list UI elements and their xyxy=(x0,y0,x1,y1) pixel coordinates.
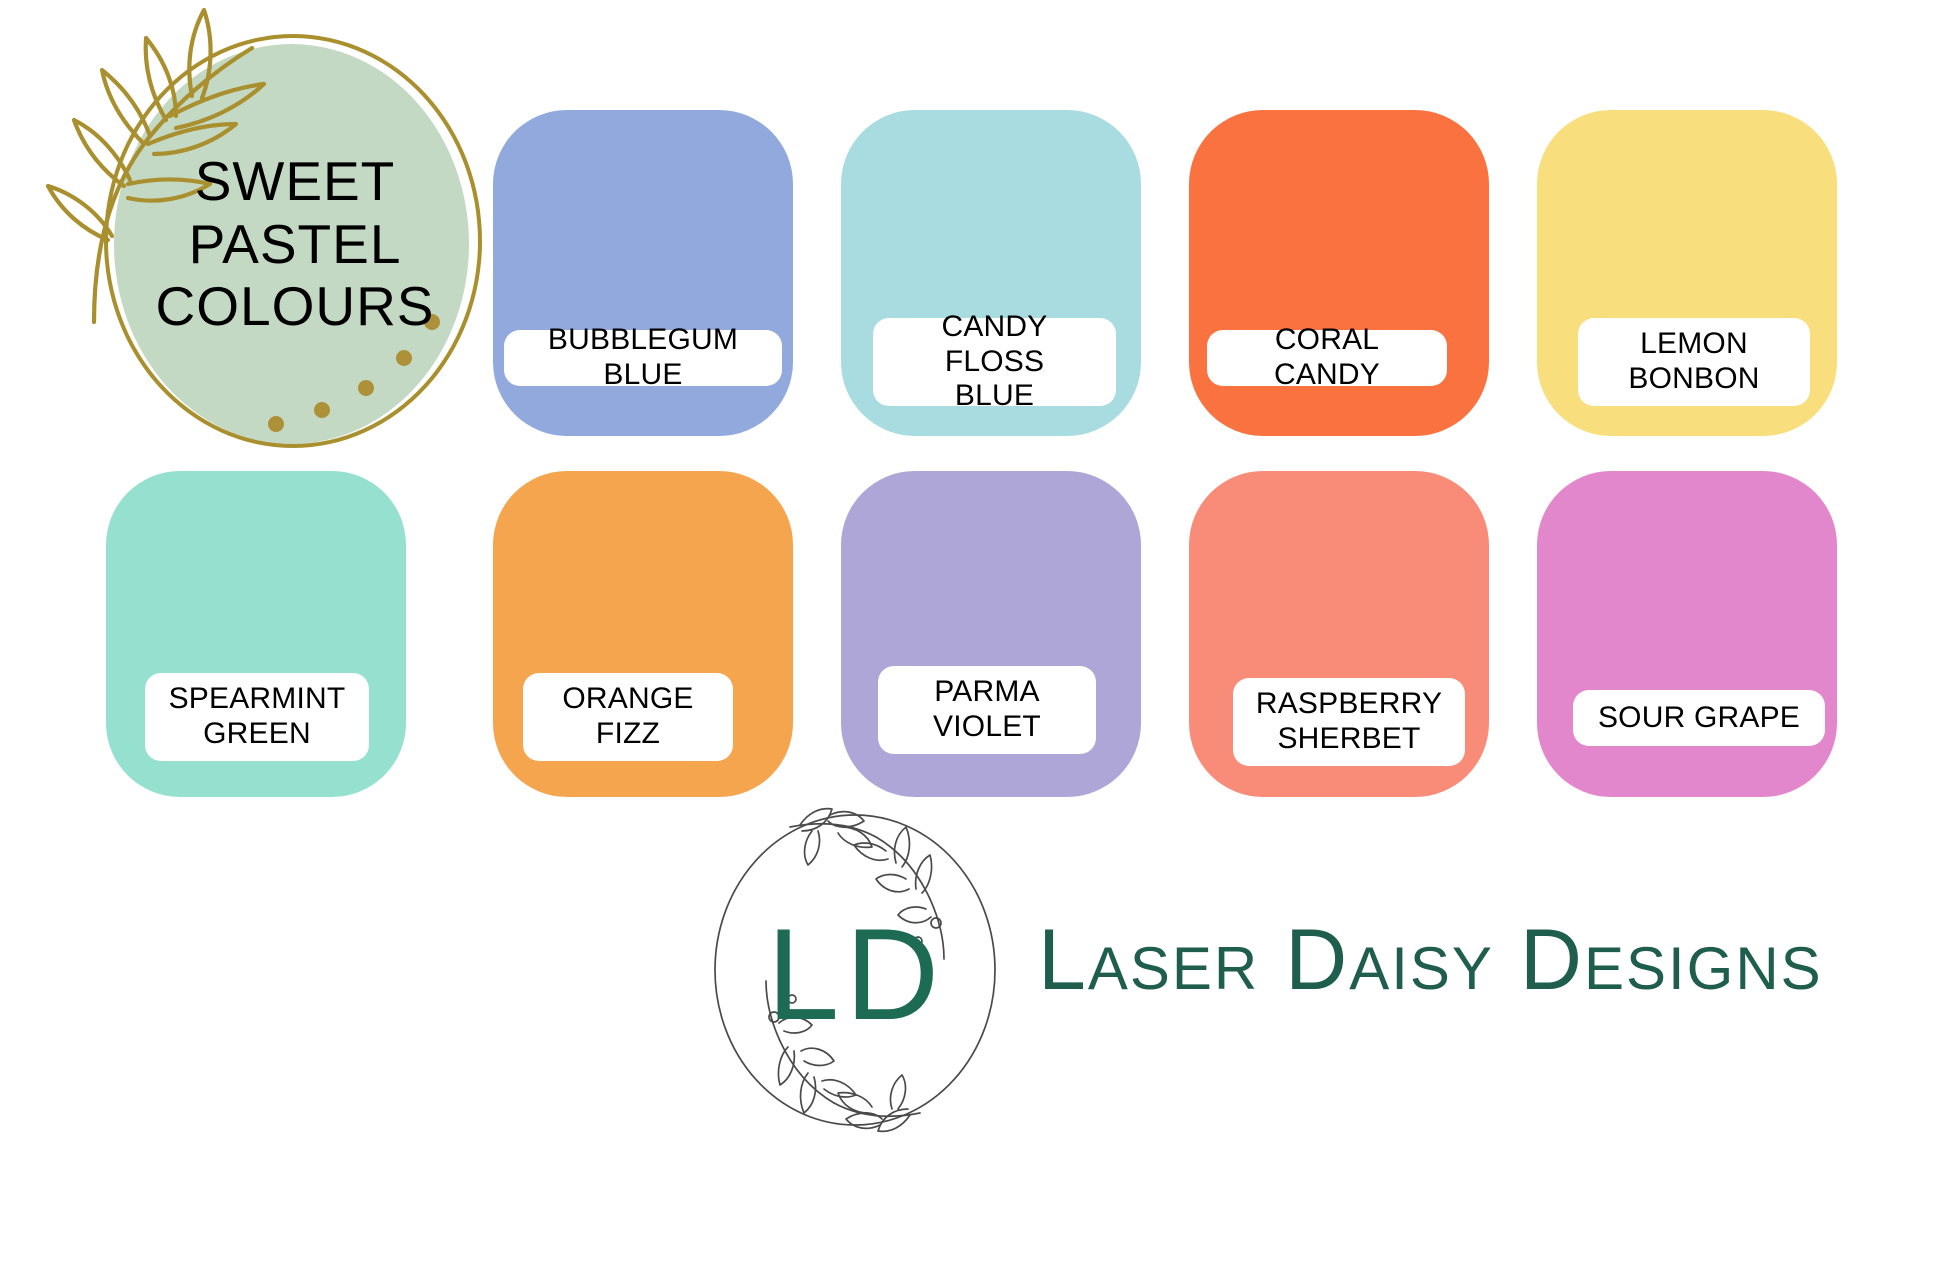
logo-wordmark: Laser Daisy Designs xyxy=(1038,917,1823,1003)
color-swatch-label: PARMA VIOLET xyxy=(878,666,1096,754)
color-swatch[interactable] xyxy=(1537,471,1837,797)
color-swatch-label: SOUR GRAPE xyxy=(1573,690,1825,746)
title-line-3: COLOURS xyxy=(140,275,450,338)
color-swatch-label: ORANGE FIZZ xyxy=(523,673,733,761)
title-badge: SWEET PASTEL COLOURS xyxy=(52,22,472,442)
title-line-2: PASTEL xyxy=(140,213,450,276)
brand-logo: LD Laser Daisy Designs xyxy=(690,805,1870,1135)
logo-monogram: LD xyxy=(736,909,976,1039)
title-text: SWEET PASTEL COLOURS xyxy=(140,150,450,338)
color-swatch-label: BUBBLEGUM BLUE xyxy=(504,330,782,386)
color-swatch-label: CANDY FLOSS BLUE xyxy=(873,318,1116,406)
color-swatch-label: RASPBERRY SHERBET xyxy=(1233,678,1465,766)
color-swatch-label: LEMON BONBON xyxy=(1578,318,1810,406)
title-line-1: SWEET xyxy=(140,150,450,213)
color-swatch-label: CORAL CANDY xyxy=(1207,330,1447,386)
color-swatch-label: SPEARMINT GREEN xyxy=(145,673,369,761)
